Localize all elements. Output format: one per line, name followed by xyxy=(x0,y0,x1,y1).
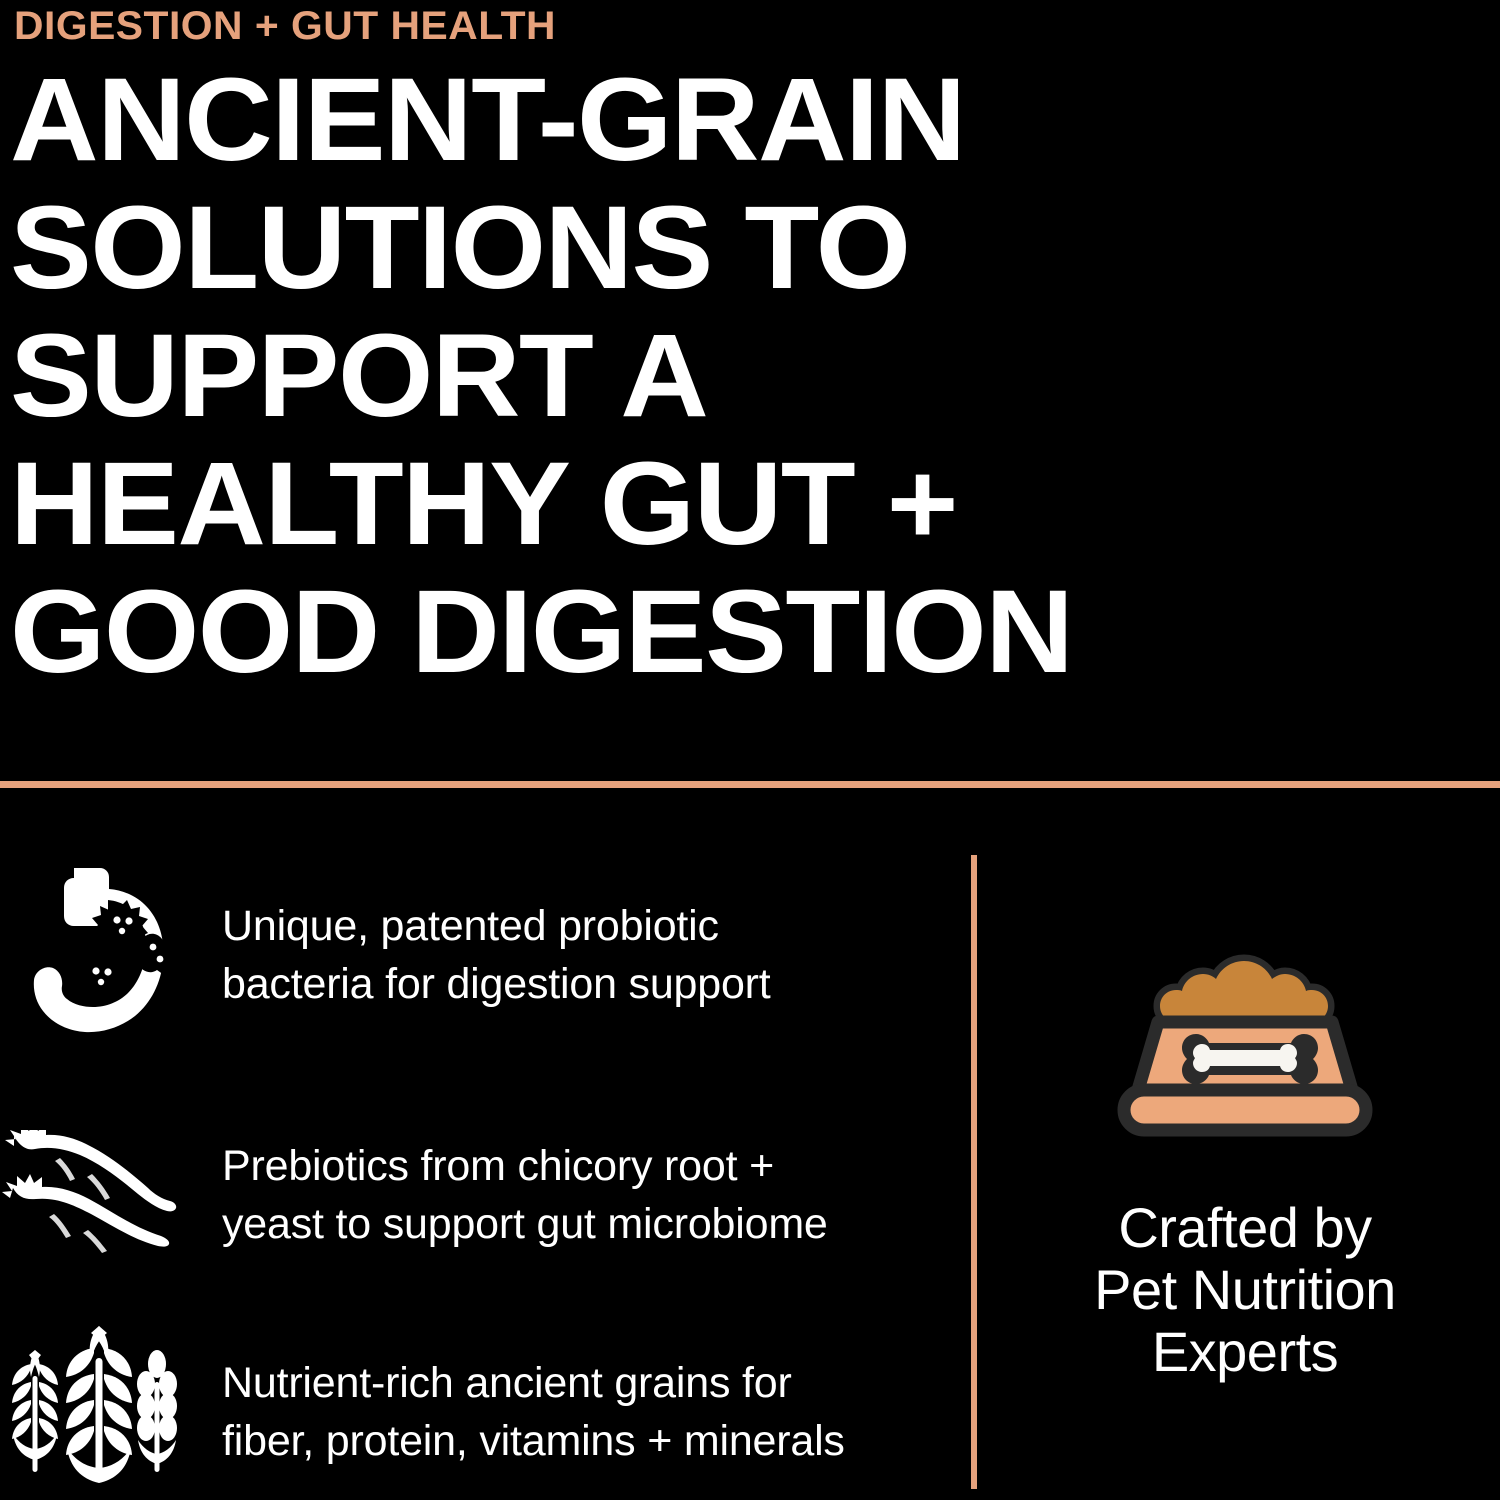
list-item-label: Unique, patented probiotic bacteria for … xyxy=(200,897,950,1013)
list-item: Nutrient-rich ancient grains for fiber, … xyxy=(0,1322,950,1500)
bullet-0-line-1: Unique, patented probiotic xyxy=(222,897,950,955)
headline-line-1: ANCIENT-GRAIN xyxy=(10,56,1362,184)
chicory-root-icon xyxy=(0,1130,200,1260)
bullet-1-line-1: Prebiotics from chicory root + xyxy=(222,1137,950,1195)
bullet-2-line-2: fiber, protein, vitamins + minerals xyxy=(222,1412,950,1470)
crafted-line-1: Crafted by xyxy=(1094,1197,1396,1259)
crafted-by-panel: Crafted by Pet Nutrition Experts xyxy=(990,855,1500,1489)
headline-line-5: GOOD DIGESTION xyxy=(10,568,1362,696)
wheat-stalks-icon xyxy=(0,1322,200,1500)
crafted-by-caption: Crafted by Pet Nutrition Experts xyxy=(1094,1197,1396,1383)
crafted-line-3: Experts xyxy=(1094,1321,1396,1383)
list-item-label: Nutrient-rich ancient grains for fiber, … xyxy=(200,1354,950,1470)
infographic-panel: DIGESTION + GUT HEALTH ANCIENT-GRAIN SOL… xyxy=(0,0,1500,1500)
list-item-label: Prebiotics from chicory root + yeast to … xyxy=(200,1137,950,1253)
headline-line-4: HEALTHY GUT + xyxy=(10,440,1362,568)
page-title: ANCIENT-GRAIN SOLUTIONS TO SUPPORT A HEA… xyxy=(10,56,1310,696)
headline-line-3: SUPPORT A xyxy=(10,312,1362,440)
benefit-list: Unique, patented probiotic bacteria for … xyxy=(0,810,950,1500)
list-item: Unique, patented probiotic bacteria for … xyxy=(0,860,950,1050)
dog-bowl-with-bone-icon xyxy=(1080,950,1410,1155)
headline-line-2: SOLUTIONS TO xyxy=(10,184,1362,312)
crafted-line-2: Pet Nutrition xyxy=(1094,1259,1396,1321)
list-item: Prebiotics from chicory root + yeast to … xyxy=(0,1110,950,1280)
eyebrow-label: DIGESTION + GUT HEALTH xyxy=(14,4,556,49)
bullet-2-line-1: Nutrient-rich ancient grains for xyxy=(222,1354,950,1412)
stomach-bacteria-icon xyxy=(0,863,200,1048)
vertical-divider xyxy=(971,855,977,1489)
horizontal-divider xyxy=(0,781,1500,788)
bullet-0-line-2: bacteria for digestion support xyxy=(222,955,950,1013)
bullet-1-line-2: yeast to support gut microbiome xyxy=(222,1195,950,1253)
